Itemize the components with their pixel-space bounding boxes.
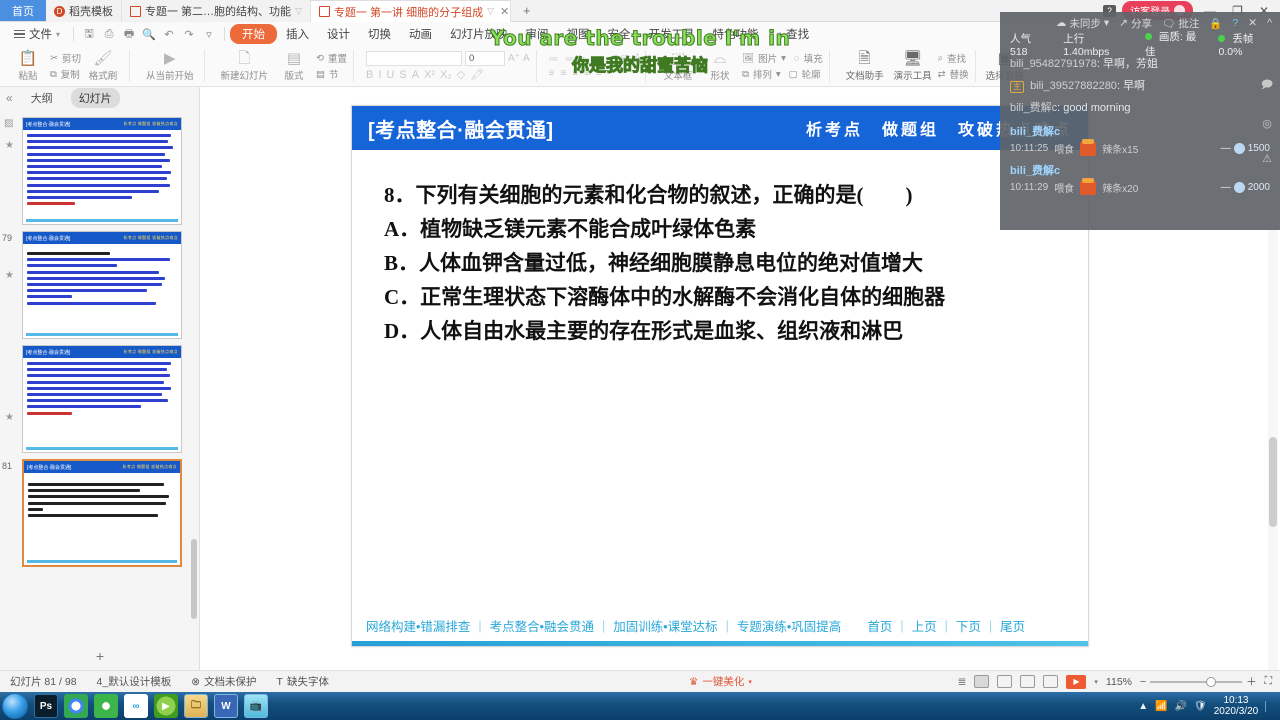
thumbnail-title: [考点整合·融会贯通] [27,464,71,471]
tab-insert[interactable]: 插入 [277,24,318,44]
slide-count: 幻灯片 81 / 98 [0,674,87,689]
chat-message: bili_费解c: good morning [1010,102,1270,116]
uplink-value: 1.40mbps [1063,46,1109,58]
collapse-panel-icon[interactable]: « [6,91,13,105]
volume-icon[interactable]: 🔊 [1175,701,1187,712]
add-slide-button[interactable]: + [0,648,200,664]
shapes-button[interactable]: ⌓ 形状 [700,51,740,82]
collapse-icon[interactable]: ^ [1267,17,1272,29]
menu-icon [14,28,25,41]
thumbnail-star-icon: ★ [5,412,14,423]
paragraph-group: ≔ ≕ ⇤ ⇥ ↕ ▤ ⫿ ≡ ≡ ≡ ≡ ≡ [545,46,654,86]
footer-section-2[interactable]: 考点整合•融会贯通 [488,616,596,635]
gift-row: 10:11:29 喂食 辣条x20 — 2000 [1010,180,1270,195]
list-row: ≔ ≕ ⇤ ⇥ ↕ ▤ ⫿ [549,54,639,65]
slide-header: [考点整合·融会贯通] 析考点 做题组 攻破热点难点 [352,106,1088,150]
text-direction-icon[interactable]: ⫿ [636,54,639,65]
template-name[interactable]: 4_默认设计模板 [87,674,182,689]
format-painter-icon: 🖌 [93,51,112,67]
beautify-button[interactable]: ♛ 一键美化 ▾ [679,674,762,689]
bullet-list-icon[interactable]: ≔ [549,54,559,65]
print-icon[interactable]: 🖶 [119,25,139,44]
help-icon[interactable]: ? [1232,17,1238,29]
divider: | [478,619,481,633]
thumbnail-title: [考点整合·融会贯通] [26,235,70,242]
clear-format-icon[interactable]: ◇ [457,68,465,81]
current-slide[interactable]: [考点整合·融会贯通] 析考点 做题组 攻破热点难点 8．下列有关细胞的元素和化… [351,105,1089,647]
option-c: C．正常生理状态下溶酶体中的水解酶不会消化自体的细胞器 [384,280,1062,314]
live-stats: 人气 518 上行 1.40mbps 画质: 最佳 丢帧 0.0% [1000,34,1280,54]
layout-label: 版式 [285,68,304,82]
divider: | [726,619,729,633]
footer-section-3[interactable]: 加固训练•课堂达标 [611,616,719,635]
cut-label: 剪切 [62,51,81,65]
thumbnail-list[interactable]: [考点整合·融会贯通] 析考点 做题组 攻破热点难点 [0,109,199,669]
gift-message: bili_费解c 10:11:25 喂食 辣条x15 — 1500 [1010,123,1270,156]
chat-text: 早啊 [1123,80,1145,92]
thumbnail-card[interactable]: [考点整合·融会贯通] 析考点 做题组 攻破热点难点 [22,345,182,453]
shapes-icon: ⌓ [714,51,726,67]
photoshop-icon[interactable]: Ps [34,694,58,718]
arrange-button[interactable]: ⧉ 排列 ▾ ▢ 轮廓 [742,67,823,81]
tray-expand-icon[interactable]: ▲ [1138,701,1148,712]
shapes-label: 形状 [711,68,730,82]
gift-item: 辣条x20 [1102,180,1138,195]
dropframe-value: 0.0% [1218,46,1242,58]
zoom-in-icon[interactable]: ＋ [1246,674,1257,689]
thumbnail-header-bar: [考点整合·融会贯通] 析考点 做题组 攻破热点难点 [23,346,181,358]
italic-button[interactable]: I [378,69,381,81]
spicy-strip-gift-icon [1080,181,1096,195]
footer-nav-prev[interactable]: 上页 [910,616,939,635]
dash-icon: — [1221,143,1231,154]
customize-icon[interactable]: ▿ [199,28,219,41]
tab-design[interactable]: 设计 [318,24,359,44]
thumbnail-note-icon: ▨ [4,118,13,129]
uplink-label: 上行 [1063,33,1084,45]
footer-nav-next[interactable]: 下页 [954,616,983,635]
divider: | [900,619,903,633]
section-button[interactable]: ▤ 节 [316,67,347,81]
clipboard-group: 📋 粘贴 ✂ 剪切 ⧉ 复制 🖌 格式刷 [4,46,138,86]
edge-legacy-icon[interactable] [94,694,118,718]
divider: | [989,619,992,633]
option-d: D．人体自由水最主要的存在形式是血浆、组织液和淋巴 [384,314,1062,348]
live-stream-panel[interactable]: ☁ 未同步 ▾ ↗ 分享 🗨 批注 🔒 ? ✕ ^ 人气 518 上行 [1000,12,1280,230]
clipboard-small-buttons: ✂ 剪切 ⧉ 复制 [50,51,81,81]
slide-thumbnail-panel: « 大纲 幻灯片 [考点整合·融会贯通] 析考点 做题组 攻破热点难点 [0,87,200,670]
medal-badge: 主 [1010,81,1024,93]
thumbnail-title: [考点整合·融会贯通] [26,349,70,356]
replace-icon: ⇄ [938,69,946,80]
arrange-label: 排列 [753,67,772,81]
replace-label: 替换 [950,67,969,81]
zoom-slider[interactable]: − ＋ [1140,674,1257,689]
file-explorer-icon[interactable]: 🗀 [184,694,208,718]
tab-developer-tools[interactable]: 开发工具 [640,24,704,44]
coin-icon [1234,143,1245,154]
tab-slideshow[interactable]: 幻灯片放映 [441,24,517,44]
thumbnail-card[interactable]: [考点整合·融会贯通] 析考点 做题组 攻破热点难点 [22,459,182,567]
underline-button[interactable]: U [386,69,394,81]
show-desktop-icon[interactable] [1265,701,1274,712]
chat-user: bili_95482791978 [1010,58,1097,70]
home-tab-label: 首页 [12,3,34,19]
missing-font-label: 缺失字体 [287,674,329,689]
tab-slides[interactable]: 幻灯片 [71,88,120,108]
tab-find[interactable]: ⌕ 查找 [768,24,819,44]
slides-group: 🗋 新建幻灯片 ▤ 版式 ⟲ 重置 ▤ 节 [213,46,363,86]
footer-section-4[interactable]: 专题演练•巩固提高 [735,616,843,635]
strikethrough-button[interactable]: S [399,69,406,81]
new-slide-button[interactable]: 🗋 新建幻灯片 [217,51,273,82]
text-box-icon: ⬚ [671,51,685,67]
gift-message: bili_费解c 10:11:29 喂食 辣条x20 — 2000 [1010,162,1270,195]
tab-outline[interactable]: 大纲 [23,88,61,108]
sorter-view-icon[interactable] [997,675,1012,688]
copy-icon: ⧉ [50,69,57,80]
option-a: A．植物缺乏镁元素不能合成叶绿体色素 [384,212,1062,246]
chevron-down-icon: ▾ [748,678,752,686]
increase-indent-icon[interactable]: ⇥ [595,54,603,65]
align-center-icon[interactable]: ≡ [560,68,566,79]
format-painter-button[interactable]: 🖌 格式刷 [83,51,123,82]
notes-view-icon[interactable] [1043,675,1058,688]
font-warning-icon: T [277,676,283,688]
divider: | [602,619,605,633]
save-as-icon[interactable]: ⎙ [99,28,119,41]
footer-nav-first[interactable]: 首页 [865,616,894,635]
home-tab[interactable]: 首页 [0,0,46,21]
thumbnail-header-right: 析考点 做题组 攻破热点难点 [123,464,177,470]
print-preview-icon[interactable]: 🔍 [139,28,159,41]
gift-row: 10:11:25 喂食 辣条x15 — 1500 [1010,141,1270,156]
windows-taskbar: Ps ∞ ▶ 🗀 W 📺 ▲ 📶 🔊 🛡 10:13 2020/3/20 [0,692,1280,720]
tab-docer-template[interactable]: D 稻壳模板 [46,0,122,22]
redo-icon[interactable]: ↷ [179,28,199,41]
find-label: 查找 [947,51,966,65]
thumbnail-header-right: 析考点 做题组 攻破热点难点 [124,349,178,355]
chat-user: bili_费解c [1010,102,1057,114]
scrollbar-thumb[interactable] [1269,437,1277,527]
gift-icon[interactable]: ◎ [1262,117,1272,130]
footer-nav-last[interactable]: 尾页 [998,616,1027,635]
doc-assistant-label: 文档助手 [846,68,884,82]
font-row: 0 A⁺ A [366,51,530,66]
align-right-icon[interactable]: ≡ [572,68,578,79]
wps-label: W [221,701,230,712]
cut-icon: ✂ [50,53,58,64]
line-spacing-icon[interactable]: ↕ [609,54,614,65]
tab-review[interactable]: 审阅 [517,24,558,44]
normal-view-icon[interactable] [974,675,989,688]
popularity-label: 人气 [1010,33,1031,45]
system-tray: ▲ 📶 🔊 🛡 10:13 2020/3/20 [1138,695,1280,718]
document-protection[interactable]: ⊗ 文档未保护 [181,674,266,689]
tab-animation[interactable]: 动画 [400,24,441,44]
divider [224,27,225,41]
font-name-input[interactable] [366,51,462,66]
live-chat-list[interactable]: bili_95482791978: 早啊，芳姐 主 bili_395278822… [1000,54,1280,195]
decrease-indent-icon[interactable]: ⇤ [581,54,589,65]
thumbnail-scrollbar[interactable] [191,539,197,619]
file-menu-button[interactable]: 文件 ▾ [6,26,68,42]
thumbnail-body [24,473,180,524]
distribute-icon[interactable]: ≡ [596,68,602,79]
cut-button[interactable]: ✂ 剪切 [50,51,81,65]
copy-button[interactable]: ⧉ 复制 [50,67,81,81]
lock-icon: ▽ [487,6,494,17]
reset-label: 重置 [328,51,347,65]
spicy-strip-gift-icon [1080,142,1096,156]
arrange-icon: ⧉ [742,69,749,80]
picture-label: 图片 [758,51,777,65]
reset-icon: ⟲ [316,53,324,64]
zoom-out-icon[interactable]: − [1140,676,1146,688]
tab-label: 稻壳模板 [69,3,113,19]
dropframe-label: 丢帧 [1232,33,1253,45]
gift-time: 10:11:29 [1010,182,1048,193]
slide-footer-nav: 网络构建•错漏排查 | 考点整合•融会贯通 | 加固训练•课堂达标 | 专题演练… [352,616,1088,641]
chrome-icon[interactable] [64,694,88,718]
tab-view[interactable]: 视图 [558,24,599,44]
undo-icon[interactable]: ↶ [159,28,179,41]
search-icon: ⌕ [938,53,943,64]
paragraph-controls: ≔ ≕ ⇤ ⇥ ↕ ▤ ⫿ ≡ ≡ ≡ ≡ ≡ [549,54,639,79]
zoom-knob[interactable] [1206,677,1216,687]
status-dot-green [1218,35,1225,42]
find-button[interactable]: ⌕ 查找 [938,51,969,65]
divider: | [945,619,948,633]
paste-icon: 📋 [19,51,38,67]
chat-message: bili_95482791978: 早啊，芳姐 [1010,58,1270,72]
start-from-current-button[interactable]: ▶ 从当前开始 [142,51,198,82]
divider [353,50,354,82]
numbered-list-icon[interactable]: ≕ [565,54,575,65]
share-icon: ↗ [1119,17,1128,29]
thumbnail-panel-header: « 大纲 幻灯片 [0,87,199,109]
thumbnail-body [23,130,181,212]
thumbnail-header-bar: [考点整合·融会贯通] 析考点 做题组 攻破热点难点 [23,232,181,244]
beautify-icon: ♛ [689,676,698,688]
fill-label: 填充 [804,51,823,65]
security-icon[interactable]: 🛡 [1194,701,1207,712]
network-icon[interactable]: 📶 [1155,701,1167,712]
find-replace-buttons: ⌕ 查找 ⇄ 替换 [938,51,969,81]
reset-button[interactable]: ⟲ 重置 [316,51,347,65]
divider [73,27,74,41]
quality-stat: 画质: 最佳 [1145,29,1206,59]
close-icon[interactable]: ✕ [500,5,509,18]
tab-topic1-lecture1[interactable]: 专题一 第一讲 细胞的分子组成 ▽ ✕ [311,0,511,22]
tab-security[interactable]: 安全 [599,24,640,44]
chat-user: bili_39527882280 [1030,80,1117,92]
slide-header-title: [考点整合·融会贯通] [368,114,553,143]
doc-assistant-button[interactable]: 🗎 文档助手 [842,51,888,82]
chat-message: 主 bili_39527882280: 早啊 [1010,80,1270,94]
format-painter-label: 格式刷 [89,68,118,82]
tab-start[interactable]: 开始 [230,24,277,44]
play-icon: ▶ [1073,677,1079,686]
qq-browser-icon[interactable]: ∞ [124,694,148,718]
thumbnail-header-right: 析考点 做题组 攻破热点难点 [124,235,178,241]
wps-docer-icon: D [54,6,65,17]
thumbnail-header-bar: [考点整合·融会贯通] 析考点 做题组 攻破热点难点 [23,118,181,130]
chevron-down-icon: ▾ [1104,17,1109,29]
status-dot-green [1145,33,1152,40]
thumbnail-footer [27,560,177,563]
popularity-value: 518 [1010,46,1028,58]
bilibili-live-icon[interactable]: 📺 [244,694,268,718]
thumbnail-header-right: 析考点 做题组 攻破热点难点 [124,121,178,127]
zoom-track[interactable] [1150,681,1242,683]
picture-icon: 🖼 [742,53,754,64]
thumbnail-header-bar: [考点整合·融会贯通] 析考点 做题组 攻破热点难点 [24,461,180,473]
thumbnail-item[interactable]: [考点整合·融会贯通] 析考点 做题组 攻破热点难点 [22,345,189,453]
outline-icon: ▢ [789,69,798,80]
thumbnail-star-icon: ★ [5,140,14,151]
thumbnail-footer [26,333,178,336]
tab-label: 专题一 第二…胞的结构、功能 [145,3,291,19]
outline-label: 轮廓 [802,67,821,81]
wps-icon[interactable]: W [214,694,238,718]
thumbnail-footer [26,447,178,450]
subscript-button[interactable]: X₂ [440,69,452,81]
dash-icon: — [1221,182,1231,193]
live-side-icons: 🗩 ◎ ⚠ [1254,40,1280,220]
slide-body[interactable]: 8．下列有关细胞的元素和化合物的叙述，正确的是( ) A．植物缺乏镁元素不能合成… [352,150,1088,348]
play-dropdown-icon[interactable]: ▾ [1094,678,1098,686]
find-label: 查找 [786,29,809,41]
justify-icon[interactable]: ≡ [584,68,590,79]
photoshop-label: Ps [40,701,52,712]
media-player-icon[interactable]: ▶ [154,694,178,718]
uplink-stat: 上行 1.40mbps [1063,31,1133,58]
new-tab-label: + [523,3,531,18]
gift-item: 辣条x15 [1102,141,1138,156]
tab-topic1-lecture2[interactable]: 专题一 第二…胞的结构、功能 ▽ [122,0,311,22]
new-slide-label: 新建幻灯片 [221,68,269,82]
windows-start-icon[interactable] [2,693,28,719]
thumbnail-card[interactable]: [考点整合·融会贯通] 析考点 做题组 攻破热点难点 [22,231,182,339]
thumbnail-body [23,244,181,312]
decrease-font-icon[interactable]: A [523,53,530,64]
status-right-controls: ≣ ▶ ▾ 115% − ＋ ⛶ [958,674,1280,689]
tab-transition[interactable]: 切换 [359,24,400,44]
clock-date: 2020/3/20 [1214,706,1259,718]
file-menu-label: 文件 [29,26,52,42]
highlight-icon[interactable]: 🖍 [470,68,484,81]
gift-user: bili_费解c [1010,123,1270,139]
align-left-icon[interactable]: ≡ [549,68,555,79]
layout-button[interactable]: ▤ 版式 [274,51,314,82]
missing-font[interactable]: T 缺失字体 [267,674,339,689]
outline-view-icon[interactable]: ≣ [958,676,967,688]
increase-font-icon[interactable]: A⁺ [508,53,520,64]
option-b: B．人体血钾含量过低，神经细胞膜静息电位的绝对值增大 [384,246,1062,280]
replace-button[interactable]: ⇄ 替换 [938,67,969,81]
divider [829,50,830,82]
chat-icon[interactable]: 🗩 [1261,76,1273,95]
wps-presentation-window: 首页 D 稻壳模板 专题一 第二…胞的结构、功能 ▽ 专题一 第一讲 细胞的分子… [0,0,1280,720]
divider [536,50,537,82]
save-icon[interactable]: 🖫 [79,25,99,44]
text-box-button[interactable]: ⬚ 文本框 [658,51,698,82]
chevron-down-icon: ▾ [776,69,781,80]
shield-icon: ⊗ [191,676,200,688]
ppt-file-icon [130,6,141,17]
footer-accent-bar [352,641,1088,646]
coin-icon [1234,182,1245,193]
divider [975,50,976,82]
insert-group: ⬚ 文本框 ⌓ 形状 🖼 图片 ▾ ◌ 填充 ⧉ [654,46,838,86]
font-size-input[interactable]: 0 [465,51,505,66]
insert-small-buttons: 🖼 图片 ▾ ◌ 填充 ⧉ 排列 ▾ ▢ 轮廓 [742,51,823,81]
paste-button[interactable]: 📋 粘贴 [8,51,48,82]
add-slide-label: + [96,648,104,664]
new-slide-icon: 🗋 [238,51,250,67]
bold-button[interactable]: B [366,69,373,81]
chat-text: good morning [1063,102,1130,114]
lock-icon[interactable]: 🔒 [1209,17,1222,30]
thumbnail-title: [考点整合·融会贯通] [26,121,70,128]
copy-label: 复制 [61,67,80,81]
chat-text: 早啊，芳姐 [1103,58,1158,70]
status-bar: 幻灯片 81 / 98 4_默认设计模板 ⊗ 文档未保护 T 缺失字体 ♛ 一键… [0,670,1280,692]
superscript-button[interactable]: X² [424,69,435,81]
present-tools-icon: 🖥 [903,51,922,67]
fill-icon: ◌ [794,53,800,64]
close-icon[interactable]: ✕ [1248,17,1257,29]
section-icon: ▤ [316,69,325,80]
reading-view-icon[interactable] [1020,675,1035,688]
present-tools-button[interactable]: 🖥 演示工具 [890,51,936,82]
comment-icon: 🗨 [1162,17,1175,30]
play-slideshow-button[interactable]: ▶ [1066,675,1086,689]
footer-section-1[interactable]: 网络构建•错漏排查 [364,616,472,635]
thumbnail-number: 79 [2,233,12,243]
thumbnail-card[interactable]: [考点整合·融会贯通] 析考点 做题组 攻破热点难点 [22,117,182,225]
thumbnail-item[interactable]: [考点整合·融会贯通] 析考点 做题组 攻破热点难点 [22,117,189,225]
zoom-level[interactable]: 115% [1106,676,1132,688]
tab-special-features[interactable]: 特色功能 [704,24,768,44]
new-tab-button[interactable]: + [511,0,543,21]
cloud-sync-button[interactable]: ☁ 未同步 ▾ [1056,16,1109,31]
gift-action: 喂食 [1054,180,1074,195]
thumbnail-item-selected[interactable]: 81 [考点整合·融会贯通] 析考点 做题组 攻破热点难点 [22,459,189,567]
doc-assistant-icon: 🗎 [859,51,871,67]
search-icon: ⌕ [777,29,783,41]
font-group: 0 A⁺ A B I U S A X² X₂ ◇ 🖍 [362,46,545,86]
taskbar-clock[interactable]: 10:13 2020/3/20 [1214,695,1259,718]
align-row: ≡ ≡ ≡ ≡ ≡ [549,68,639,79]
layout-icon: ▤ [287,51,301,67]
divider [129,50,130,82]
alert-icon[interactable]: ⚠ [1262,152,1272,165]
picture-button[interactable]: 🖼 图片 ▾ ◌ 填充 [742,51,823,65]
text-box-label: 文本框 [664,68,693,82]
thumbnail-item[interactable]: 79 [考点整合·融会贯通] 析考点 做题组 攻破热点难点 [22,231,189,339]
columns-icon[interactable]: ▤ [620,54,629,65]
fit-to-window-icon[interactable]: ⛶ [1265,675,1272,688]
quality-label: 画质: [1159,31,1183,43]
beautify-label: 一键美化 [702,674,744,689]
font-color-button[interactable]: A [412,69,419,81]
thumbnail-star-icon: ★ [5,270,14,281]
paste-label: 粘贴 [18,68,37,82]
popularity-stat: 人气 518 [1010,31,1051,58]
ppt-file-icon [319,6,330,17]
